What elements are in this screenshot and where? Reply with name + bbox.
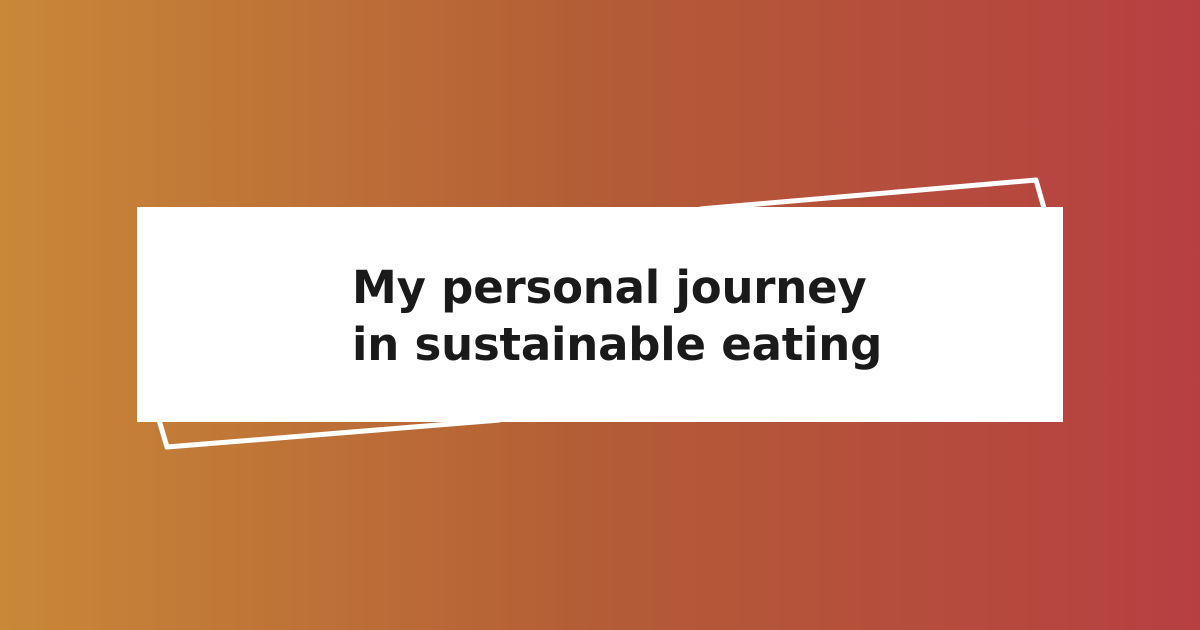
social-card-canvas: My personal journey in sustainable eatin… xyxy=(0,0,1200,630)
page-title: My personal journey in sustainable eatin… xyxy=(352,259,1012,373)
headline-card: My personal journey in sustainable eatin… xyxy=(137,207,1063,422)
